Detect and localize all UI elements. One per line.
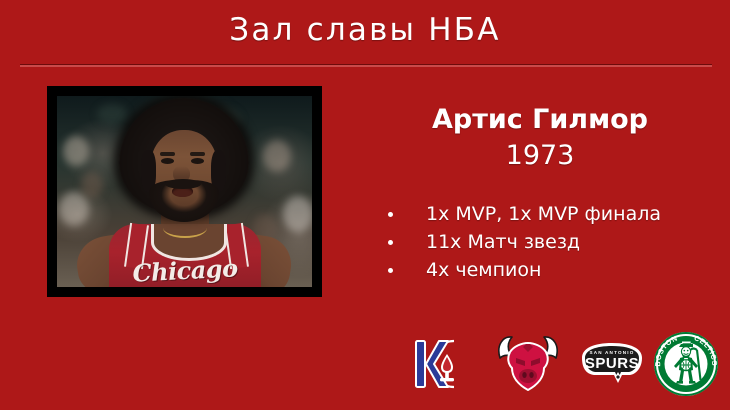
chicago-bulls-icon <box>494 328 562 400</box>
kentucky-colonels-logo <box>406 328 478 400</box>
jersey-wordmark: Chicago <box>122 253 247 287</box>
achievement-text: 4x чемпион <box>426 259 541 281</box>
player-photo-frame: Chicago <box>47 86 322 297</box>
team-logos-row: SAN ANTONIO SPURS BOST <box>402 328 722 404</box>
player-photo: Chicago <box>57 96 312 287</box>
list-item: 4x чемпион <box>382 256 722 284</box>
bullet-icon <box>388 212 393 217</box>
list-item: 1x MVP, 1x MVP финала <box>382 200 722 228</box>
player-eye-left <box>161 158 174 164</box>
crowd-blur-dot <box>81 172 103 198</box>
player-mustache <box>165 179 201 189</box>
player-name: Артис Гилмор <box>360 104 720 136</box>
kentucky-colonels-icon <box>406 328 478 400</box>
boston-celtics-logo: BOSTON CELTICS <box>650 328 722 400</box>
achievements-list: 1x MVP, 1x MVP финала 11x Матч звезд 4x … <box>382 200 722 284</box>
page-title: Зал славы НБА <box>0 12 730 48</box>
crowd-blur-dot <box>283 196 312 232</box>
crowd-blur-dot <box>63 136 89 166</box>
crowd-blur-dot <box>59 192 89 226</box>
crowd-blur-dot <box>263 140 291 172</box>
achievement-text: 11x Матч звезд <box>426 231 580 253</box>
achievement-text: 1x MVP, 1x MVP финала <box>426 203 661 225</box>
crowd-blur-dot <box>97 104 127 124</box>
spurs-wordmark: SPURS <box>585 355 639 372</box>
san-antonio-spurs-icon: SAN ANTONIO SPURS <box>574 328 650 400</box>
title-divider <box>20 64 712 67</box>
player-eyebrow-left <box>160 152 175 156</box>
bullet-icon <box>388 268 393 273</box>
list-item: 11x Матч звезд <box>382 228 722 256</box>
san-antonio-spurs-logo: SAN ANTONIO SPURS <box>574 328 650 400</box>
player-eyebrow-right <box>190 152 205 156</box>
title-area: Зал славы НБА <box>0 0 730 72</box>
slide-canvas: Зал славы НБА <box>0 0 730 410</box>
bullet-icon <box>388 240 393 245</box>
player-eye-right <box>191 158 204 164</box>
chicago-bulls-logo <box>494 328 562 400</box>
boston-celtics-icon: BOSTON CELTICS <box>650 328 722 400</box>
player-induction-year: 1973 <box>360 140 720 172</box>
